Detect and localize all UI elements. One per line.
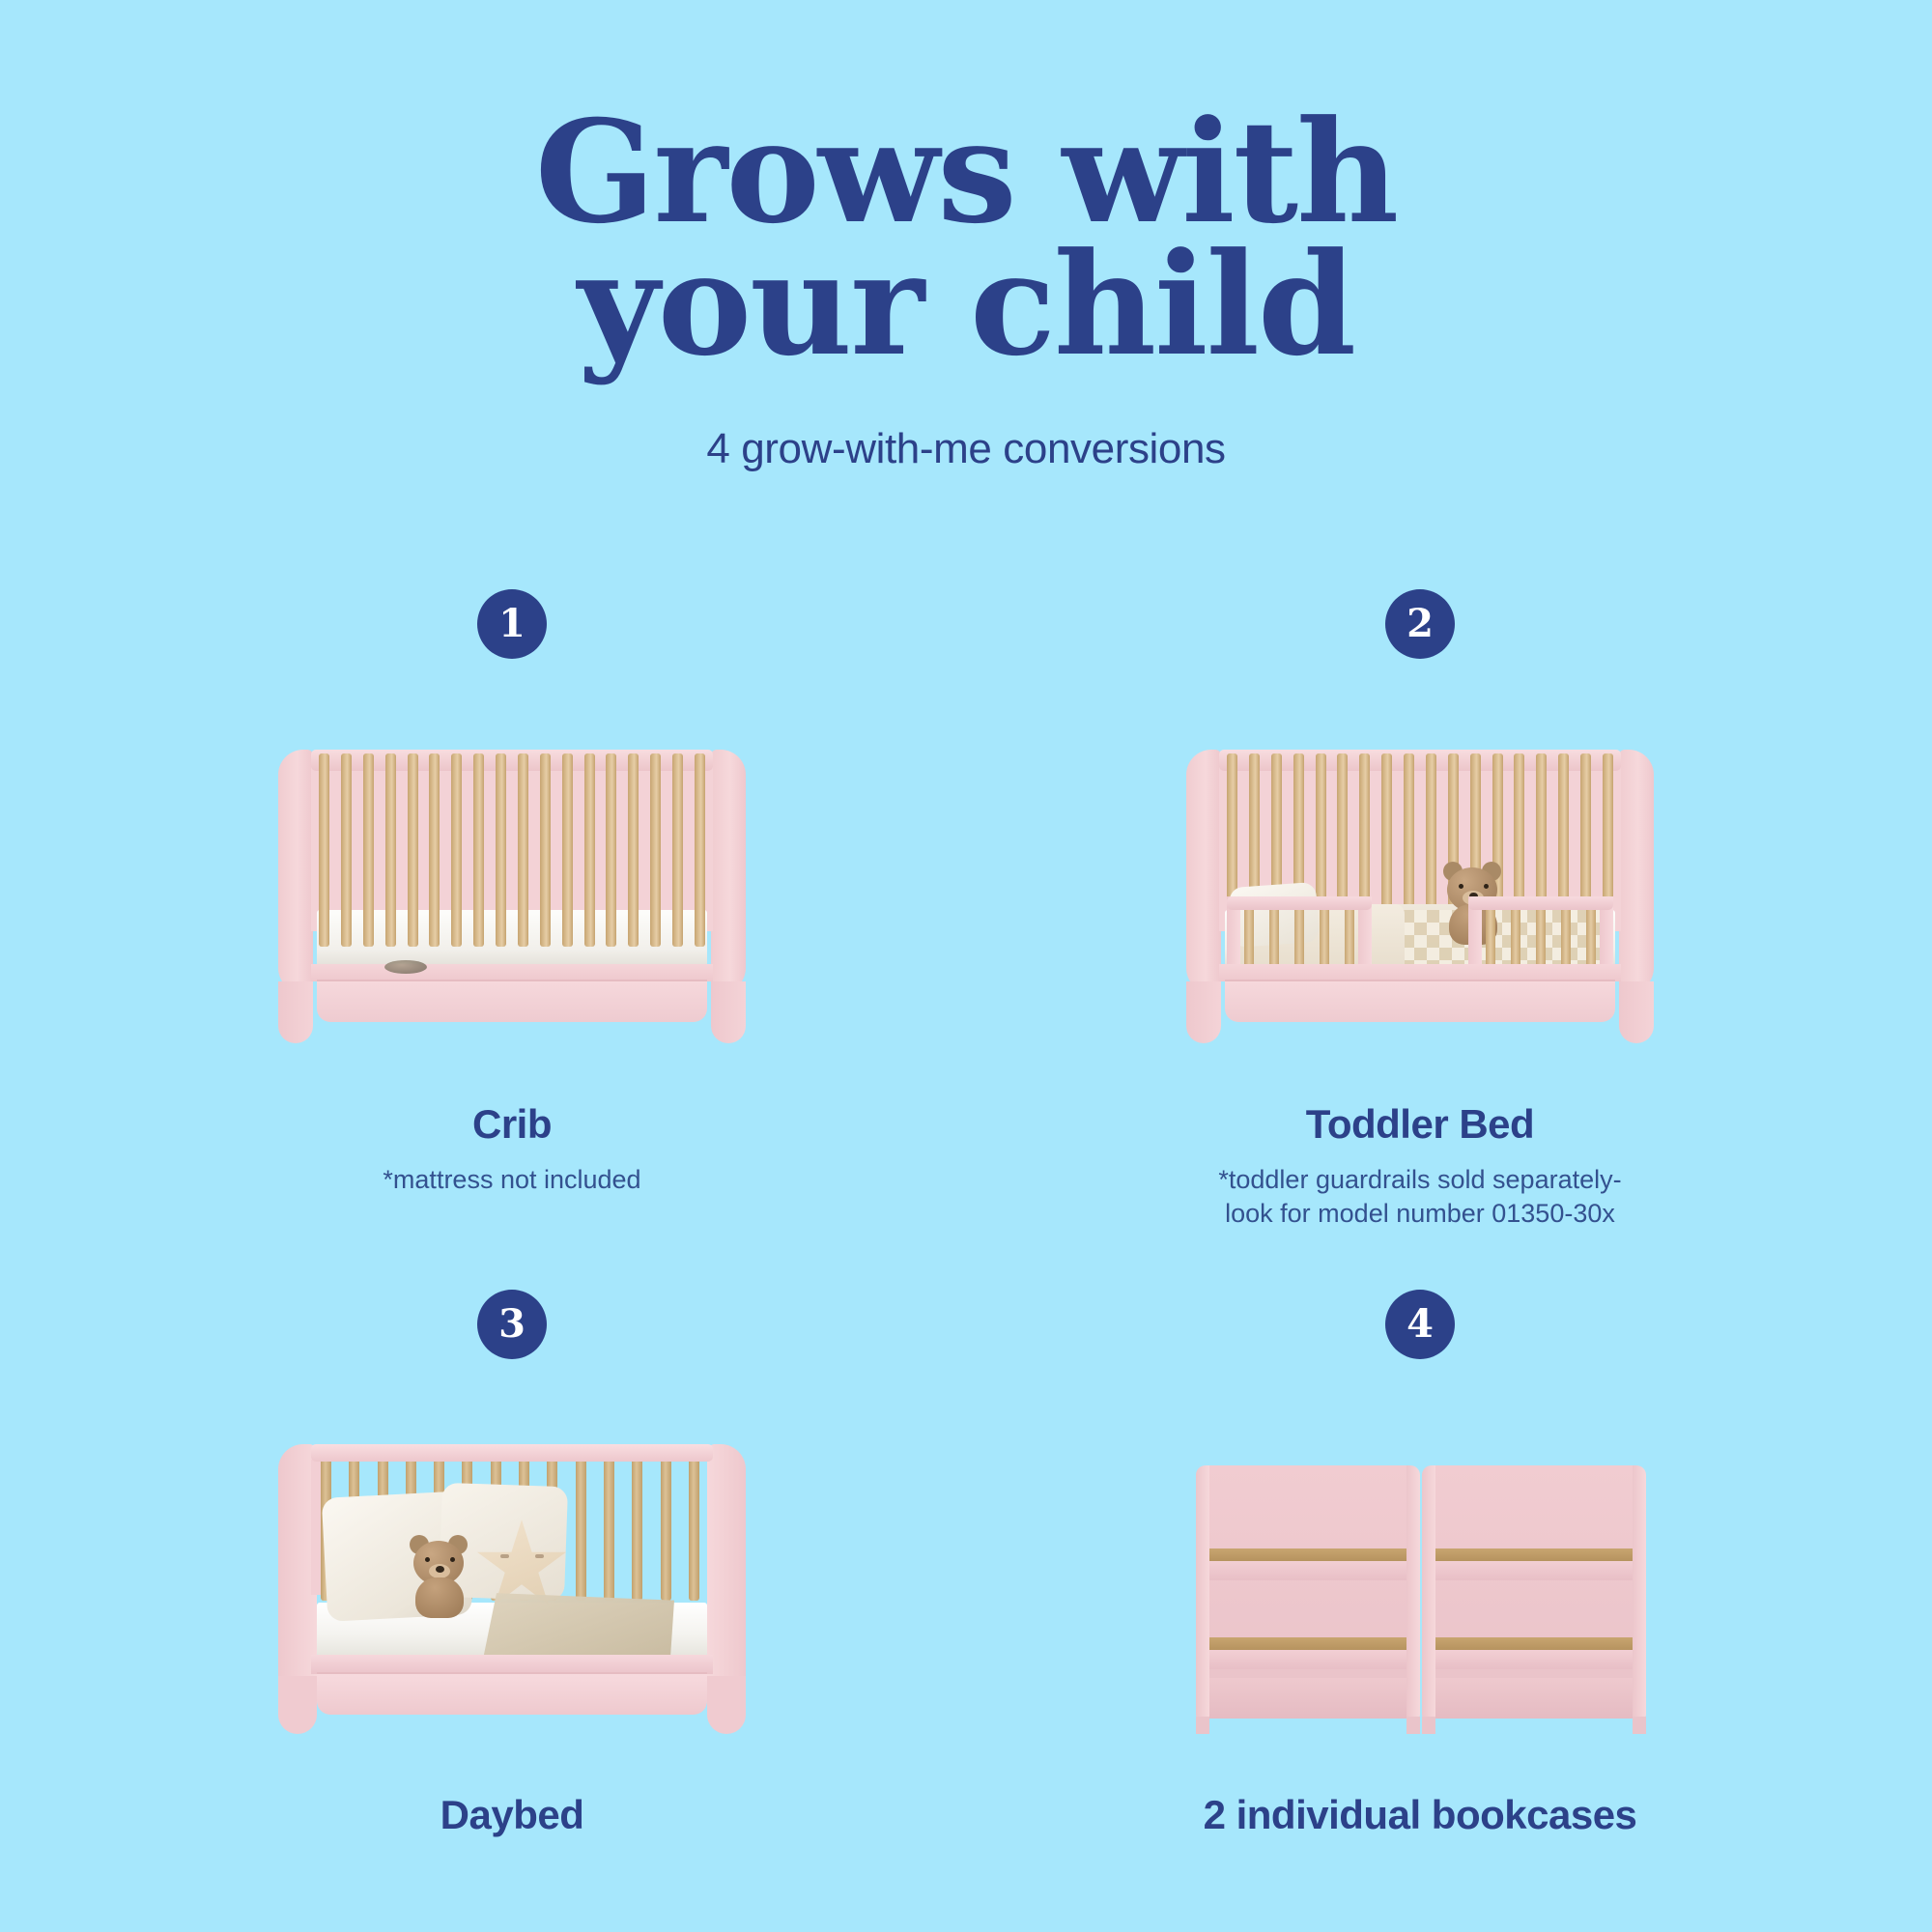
- star-pillow-eye-right: [535, 1554, 544, 1558]
- daybed-front-rail: [311, 1655, 713, 1674]
- caption-title-daybed: Daybed: [440, 1792, 584, 1838]
- bed-right-panel: [1619, 750, 1654, 993]
- conversion-item-bookcases: 4 2: [966, 1290, 1874, 1838]
- bookcase-right: [1422, 1465, 1646, 1719]
- page-header: Grows with your child 4 grow-with-me con…: [0, 0, 1932, 473]
- caption-title-crib: Crib: [472, 1101, 552, 1148]
- conversion-item-crib: 1 Crib *mattress not included: [58, 589, 966, 1230]
- bed-foot-right: [1619, 981, 1654, 1043]
- step-badge-3: 3: [477, 1290, 547, 1359]
- crib-slats: [319, 753, 705, 947]
- page-title: Grows with your child: [531, 106, 1401, 371]
- caption-note-toddler-bed: *toddler guardrails sold separately- loo…: [1218, 1163, 1621, 1230]
- crib-illustration: [261, 740, 763, 1059]
- teddy-bear-icon: [402, 1531, 487, 1628]
- conversion-item-toddler-bed: 2: [966, 589, 1874, 1230]
- daybed-foot-right: [707, 1676, 746, 1734]
- crib-foot-left: [278, 981, 313, 1043]
- daybed-top-rail: [311, 1444, 713, 1462]
- conversions-grid: 1 Crib *mattress not included: [0, 589, 1932, 1838]
- crib-right-panel: [711, 750, 746, 993]
- page-subtitle: 4 grow-with-me conversions: [0, 425, 1932, 473]
- star-pillow-eye-left: [500, 1554, 509, 1558]
- crib-left-panel: [278, 750, 313, 993]
- bookcase-left: [1196, 1465, 1420, 1719]
- caption-note-crib: *mattress not included: [383, 1163, 640, 1197]
- step-badge-1: 1: [477, 589, 547, 659]
- crib-foot-right: [711, 981, 746, 1043]
- daybed-illustration: [261, 1431, 763, 1749]
- bed-lower-panel: [1225, 980, 1615, 1022]
- daybed-foot-left: [278, 1676, 317, 1734]
- caption-title-toddler-bed: Toddler Bed: [1306, 1101, 1534, 1148]
- daybed-right-panel: [707, 1444, 746, 1697]
- brand-plaque-icon: [384, 960, 427, 974]
- daybed-lower-panel: [317, 1672, 707, 1715]
- bed-foot-left: [1186, 981, 1221, 1043]
- step-badge-4: 4: [1385, 1290, 1455, 1359]
- bed-left-panel: [1186, 750, 1221, 993]
- step-badge-2: 2: [1385, 589, 1455, 659]
- crib-lower-panel: [317, 980, 707, 1022]
- caption-title-bookcases: 2 individual bookcases: [1204, 1792, 1637, 1838]
- conversion-item-daybed: 3: [58, 1290, 966, 1838]
- bookcases-illustration: [1169, 1431, 1671, 1749]
- toddler-bed-illustration: [1169, 740, 1671, 1059]
